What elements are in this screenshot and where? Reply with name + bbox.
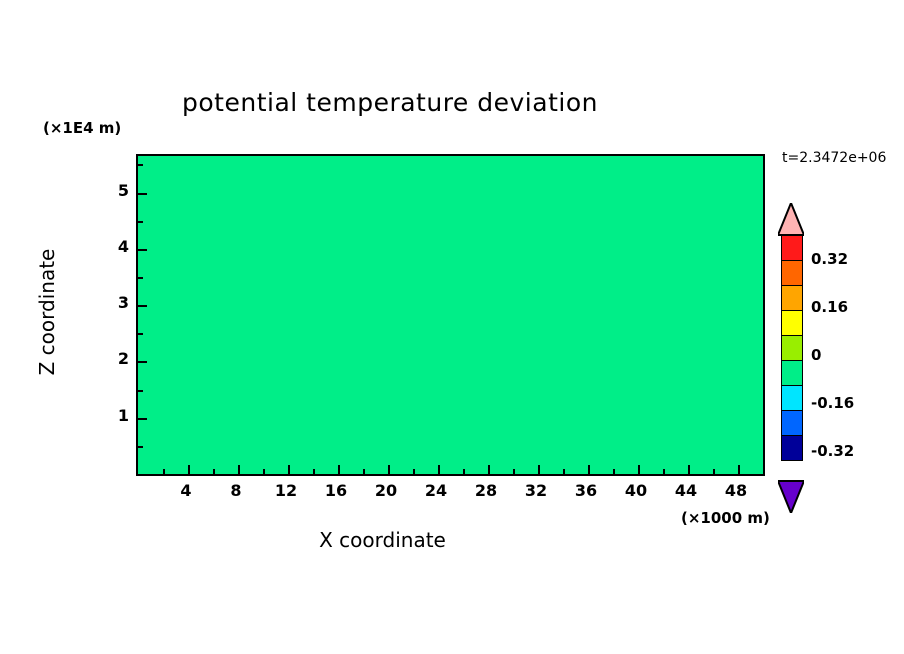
- x-tick: [238, 465, 240, 474]
- x-tick-label: 36: [566, 481, 606, 500]
- x-tick-label: 20: [366, 481, 406, 500]
- colorbar-band: [782, 336, 802, 361]
- colorbar-tick-label: -0.16: [811, 394, 854, 412]
- y-tick: [138, 193, 147, 195]
- x-tick-label: 4: [166, 481, 206, 500]
- x-tick: [288, 465, 290, 474]
- colorbar: 0.320.160-0.16-0.32: [778, 203, 804, 513]
- contour-plot-area: [136, 154, 765, 476]
- colorbar-band: [782, 361, 802, 386]
- x-tick-label: 44: [666, 481, 706, 500]
- x-tick-label: 12: [266, 481, 306, 500]
- y-tick: [138, 333, 143, 335]
- x-tick: [563, 469, 565, 474]
- x-axis-title: X coordinate: [0, 528, 765, 552]
- colorbar-band: [782, 236, 802, 261]
- colorbar-tick-label: -0.32: [811, 442, 854, 460]
- colorbar-tick-label: 0.32: [811, 250, 848, 268]
- y-tick-label: 5: [99, 181, 129, 200]
- x-tick: [513, 469, 515, 474]
- y-axis-title: Z coordinate: [35, 232, 59, 392]
- x-tick: [363, 469, 365, 474]
- x-tick: [738, 465, 740, 474]
- colorbar-tick-label: 0.16: [811, 298, 848, 316]
- x-tick-label: 32: [516, 481, 556, 500]
- x-tick: [613, 469, 615, 474]
- y-tick: [138, 277, 143, 279]
- x-tick: [588, 465, 590, 474]
- x-tick-label: 28: [466, 481, 506, 500]
- x-tick-label: 40: [616, 481, 656, 500]
- colorbar-band: [782, 436, 802, 460]
- x-tick: [338, 465, 340, 474]
- y-tick-label: 2: [99, 349, 129, 368]
- x-tick: [188, 465, 190, 474]
- x-tick: [463, 469, 465, 474]
- x-tick: [413, 469, 415, 474]
- y-tick: [138, 361, 147, 363]
- colorbar-band: [782, 411, 802, 436]
- x-tick-label: 8: [216, 481, 256, 500]
- y-tick: [138, 390, 143, 392]
- y-tick: [138, 446, 143, 448]
- page-title: potential temperature deviation: [0, 88, 780, 117]
- y-tick: [138, 221, 143, 223]
- x-tick: [313, 469, 315, 474]
- y-tick-label: 1: [99, 406, 129, 425]
- x-tick: [663, 469, 665, 474]
- x-tick: [438, 465, 440, 474]
- colorbar-band: [782, 311, 802, 336]
- x-tick: [163, 469, 165, 474]
- y-tick: [138, 418, 147, 420]
- x-axis-unit-label: (×1000 m): [681, 509, 770, 527]
- x-tick: [388, 465, 390, 474]
- y-tick: [138, 305, 147, 307]
- contour-field-canvas: [138, 156, 763, 474]
- y-axis-unit-label: (×1E4 m): [43, 119, 121, 137]
- x-tick: [538, 465, 540, 474]
- x-tick-label: 16: [316, 481, 356, 500]
- colorbar-band: [782, 261, 802, 286]
- x-tick: [688, 465, 690, 474]
- timestamp-annotation: t=2.3472e+06: [782, 150, 886, 166]
- colorbar-band: [782, 286, 802, 311]
- y-tick-label: 3: [99, 293, 129, 312]
- y-tick: [138, 164, 143, 166]
- colorbar-tick-label: 0: [811, 346, 821, 364]
- x-tick: [713, 469, 715, 474]
- x-tick: [263, 469, 265, 474]
- x-tick: [488, 465, 490, 474]
- x-tick: [213, 469, 215, 474]
- colorbar-bands: [781, 235, 803, 461]
- x-tick-label: 24: [416, 481, 456, 500]
- x-tick-label: 48: [716, 481, 756, 500]
- y-tick-label: 4: [99, 237, 129, 256]
- colorbar-band: [782, 386, 802, 411]
- y-tick: [138, 249, 147, 251]
- x-tick: [638, 465, 640, 474]
